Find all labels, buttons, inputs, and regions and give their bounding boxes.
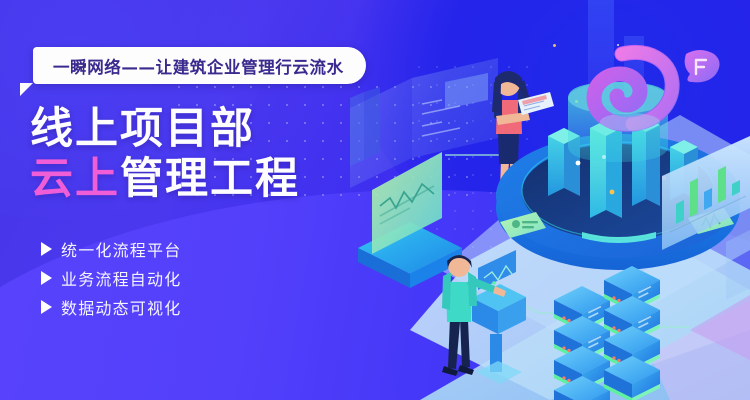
tagline-bubble-tail bbox=[20, 83, 33, 96]
list-item: 数据动态可视化 bbox=[41, 294, 181, 319]
bullet-label: 业务流程自动化 bbox=[61, 266, 181, 290]
tagline-banner: 一瞬网络——让建筑企业管理行云流水 bbox=[33, 47, 366, 84]
headline-line-2: 云上管理工程 bbox=[30, 154, 300, 204]
bullet-label: 数据动态可视化 bbox=[61, 295, 181, 319]
chart-panel-far-right bbox=[726, 230, 750, 300]
triangle-right-icon bbox=[41, 300, 52, 314]
triangle-right-icon bbox=[41, 242, 52, 256]
bullet-label: 统一化流程平台 bbox=[61, 237, 181, 261]
speech-bubble-badge bbox=[685, 50, 720, 82]
headline-block: 线上项目部 云上管理工程 bbox=[30, 104, 300, 204]
tagline-text: 一瞬网络——让建筑企业管理行云流水 bbox=[53, 54, 344, 78]
headline-line-1: 线上项目部 bbox=[30, 104, 300, 154]
list-item: 统一化流程平台 bbox=[41, 236, 181, 261]
isometric-illustration bbox=[350, 0, 750, 400]
headline-rest-text: 管理工程 bbox=[120, 154, 300, 204]
deco-pillars bbox=[350, 87, 380, 166]
triangle-right-icon bbox=[41, 271, 52, 285]
promo-banner: 一瞬网络——让建筑企业管理行云流水 线上项目部 云上管理工程 统一化流程平台 业… bbox=[0, 0, 750, 400]
feature-bullet-list: 统一化流程平台 业务流程自动化 数据动态可视化 bbox=[41, 236, 181, 323]
list-item: 业务流程自动化 bbox=[41, 265, 181, 290]
headline-accent-text: 云上 bbox=[30, 154, 120, 204]
